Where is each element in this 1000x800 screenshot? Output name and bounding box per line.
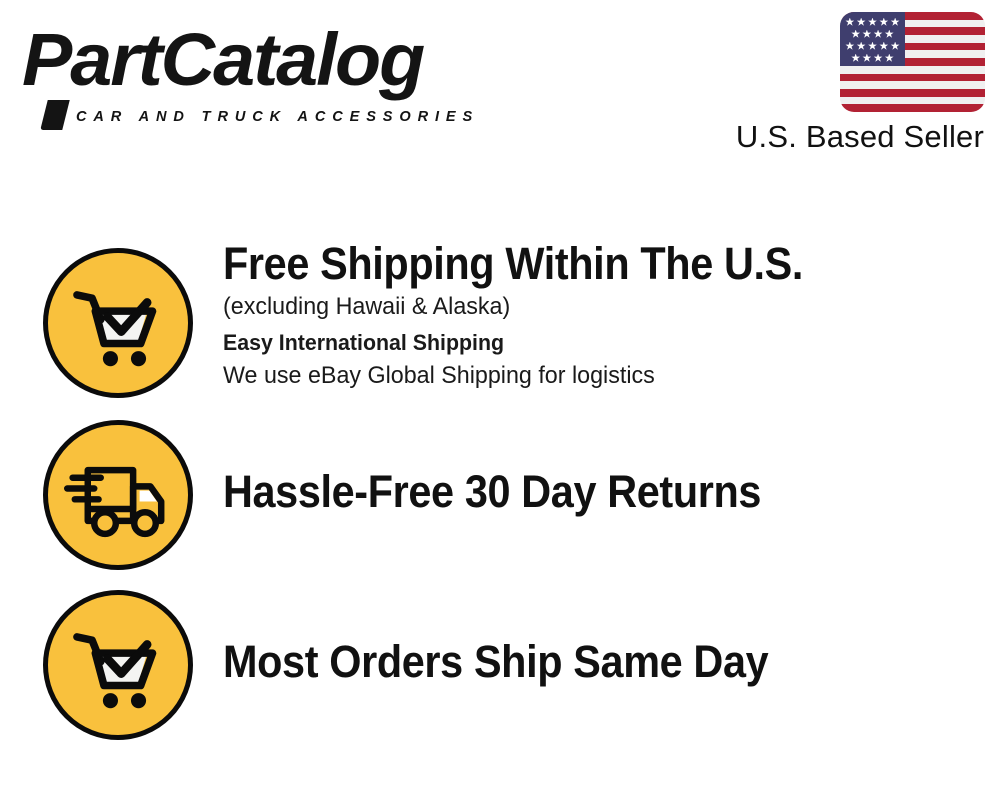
feature-subtitle: We use eBay Global Shipping for logistic…: [223, 359, 941, 393]
flag-star: [879, 42, 888, 51]
feature-row: Free Shipping Within The U.S. (excluding…: [0, 238, 1000, 413]
brand-logo: PartCatalog CAR AND TRUCK ACCESSORIES: [22, 22, 492, 122]
feature-subtitle: (excluding Hawaii & Alaska): [223, 290, 941, 324]
flag-star: [845, 42, 854, 51]
flag-star: [891, 42, 900, 51]
flag-stripe: [840, 104, 985, 112]
brand-tagline: CAR AND TRUCK ACCESSORIES: [76, 108, 479, 126]
flag-stripe: [840, 97, 985, 105]
delivery-truck-icon: [43, 420, 193, 570]
us-based-seller-badge: U.S. Based Seller: [710, 10, 985, 165]
shopping-cart-check-icon: [43, 248, 193, 398]
feature-subtitle-strong: Easy International Shipping: [223, 326, 941, 359]
us-flag-icon: [840, 12, 985, 112]
feature-row: Most Orders Ship Same Day: [0, 580, 1000, 755]
flag-star: [868, 18, 877, 27]
flag-star: [857, 18, 866, 27]
brand-wordmark: PartCatalog: [22, 18, 423, 102]
flag-star-row: [840, 28, 905, 40]
flag-star: [874, 54, 883, 63]
feature-text: Free Shipping Within The U.S. (excluding…: [223, 238, 963, 393]
seller-label: U.S. Based Seller: [736, 117, 984, 157]
flag-star-row: [840, 16, 905, 28]
flag-star: [868, 42, 877, 51]
page-header: PartCatalog CAR AND TRUCK ACCESSORIES U.…: [0, 0, 1000, 175]
flag-star-row: [840, 40, 905, 52]
feature-title: Free Shipping Within The U.S.: [223, 238, 904, 290]
feature-title: Hassle-Free 30 Day Returns: [223, 466, 904, 518]
flag-star: [862, 54, 871, 63]
flag-star: [851, 54, 860, 63]
flag-star-row: [840, 52, 905, 64]
flag-star: [885, 54, 894, 63]
flag-star: [885, 30, 894, 39]
flag-stripe: [840, 74, 985, 82]
feature-list: Free Shipping Within The U.S. (excluding…: [0, 238, 1000, 758]
flag-star: [891, 18, 900, 27]
flag-stripe: [840, 66, 985, 74]
logo-accent-slash: [40, 100, 69, 130]
flag-star: [862, 30, 871, 39]
flag-star: [879, 18, 888, 27]
feature-text: Hassle-Free 30 Day Returns: [223, 466, 963, 518]
flag-star: [845, 18, 854, 27]
flag-star: [857, 42, 866, 51]
flag-stripe: [840, 89, 985, 97]
feature-row: Hassle-Free 30 Day Returns: [0, 410, 1000, 585]
flag-star: [874, 30, 883, 39]
shopping-cart-check-icon: [43, 590, 193, 740]
flag-stripe: [840, 81, 985, 89]
feature-text: Most Orders Ship Same Day: [223, 636, 963, 688]
flag-stars: [840, 12, 905, 66]
flag-star: [851, 30, 860, 39]
feature-title: Most Orders Ship Same Day: [223, 636, 904, 688]
